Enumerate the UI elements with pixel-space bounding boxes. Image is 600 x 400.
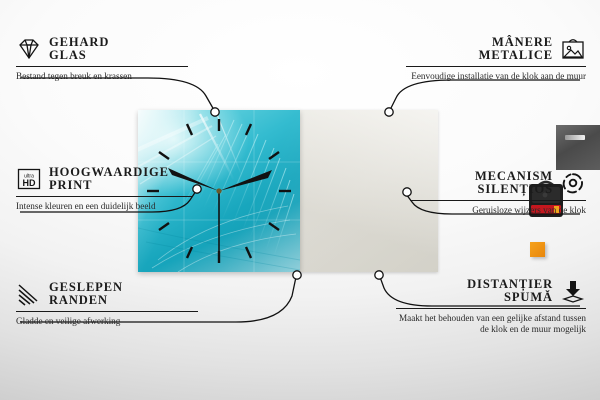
callout-description: Maakt het behouden van een gelijke afsta… bbox=[396, 313, 586, 337]
wall-mount-picture-icon bbox=[560, 37, 586, 61]
callout-title-line-2: GLAS bbox=[49, 49, 109, 62]
callout-description: Bestand tegen breuk en krassen bbox=[16, 71, 188, 83]
callout-title: GESLEPEN RANDEN bbox=[49, 281, 123, 308]
callout-title: MÂNERE METALICE bbox=[479, 36, 553, 63]
callout-header: MÂNERE METALICE bbox=[406, 36, 586, 63]
callout-geslepen-randen[interactable]: GESLEPEN RANDEN Gladde en veilige afwerk… bbox=[16, 281, 198, 327]
callout-title-line-1: HOOGWAARDIGE bbox=[49, 166, 169, 179]
callout-title-line-2: METALICE bbox=[479, 49, 553, 62]
callout-description: Intense kleuren en een duidelijk beeld bbox=[16, 201, 192, 213]
callout-header: DISTANȚIER SPUMĂ bbox=[396, 278, 586, 305]
callout-header: MECANISM SILENȚIOS bbox=[410, 170, 586, 197]
svg-text:HD: HD bbox=[23, 178, 36, 188]
callout-distantier-spuma[interactable]: DISTANȚIER SPUMĂ Maakt het behouden van … bbox=[396, 278, 586, 336]
callout-title: MECANISM SILENȚIOS bbox=[475, 170, 553, 197]
callout-title-line-2: RANDEN bbox=[49, 294, 123, 307]
callout-title: DISTANȚIER SPUMĂ bbox=[467, 278, 553, 305]
connector-dot-edges bbox=[293, 271, 301, 279]
callout-title-line-2: SPUMĂ bbox=[504, 291, 553, 304]
callout-header: GESLEPEN RANDEN bbox=[16, 281, 198, 308]
callout-title-line-1: DISTANȚIER bbox=[467, 278, 553, 291]
callout-title-line-1: MÂNERE bbox=[492, 36, 553, 49]
callout-divider bbox=[16, 311, 198, 312]
callout-description: Eenvoudige installatie van de klok aan d… bbox=[406, 71, 586, 83]
callout-title-line-1: GEHARD bbox=[49, 36, 109, 49]
infographic-stage: GEHARD GLAS Bestand tegen breuk en krass… bbox=[0, 0, 600, 400]
down-arrow-spacer-icon bbox=[560, 279, 586, 303]
connector-dot-metal bbox=[385, 108, 393, 116]
callout-description: Gladde en veilige afwerking bbox=[16, 316, 198, 328]
callout-divider bbox=[16, 66, 188, 67]
connector-dot-print bbox=[193, 185, 201, 193]
callout-description: Geruisloze wijzers van de klok bbox=[410, 205, 586, 217]
connector-dot-spacer bbox=[375, 271, 383, 279]
callout-gehard-glas[interactable]: GEHARD GLAS Bestand tegen breuk en krass… bbox=[16, 36, 188, 82]
callout-title-line-1: MECANISM bbox=[475, 170, 553, 183]
callout-title: HOOGWAARDIGE PRINT bbox=[49, 166, 169, 193]
ultra-hd-icon: ultra HD bbox=[16, 167, 42, 191]
callout-mecanism-silentios[interactable]: MECANISM SILENȚIOS Geruisloze wijzers va… bbox=[410, 170, 586, 216]
callout-title-line-1: GESLEPEN bbox=[49, 281, 123, 294]
callout-hoogwaardige-print[interactable]: ultra HD HOOGWAARDIGE PRINT Intense kleu… bbox=[16, 166, 192, 212]
callout-divider bbox=[406, 66, 586, 67]
callout-divider bbox=[396, 308, 586, 309]
callout-header: GEHARD GLAS bbox=[16, 36, 188, 63]
callout-manere-metalice[interactable]: MÂNERE METALICE Eenvoudige installatie v… bbox=[406, 36, 586, 82]
ground-edges-icon bbox=[16, 282, 42, 306]
connector-dot-glass bbox=[211, 108, 219, 116]
callout-title-line-2: SILENȚIOS bbox=[478, 183, 554, 196]
callout-divider bbox=[16, 196, 192, 197]
callout-title-line-2: PRINT bbox=[49, 179, 169, 192]
callout-title: GEHARD GLAS bbox=[49, 36, 109, 63]
callout-header: ultra HD HOOGWAARDIGE PRINT bbox=[16, 166, 192, 193]
gear-icon bbox=[560, 171, 586, 195]
callout-divider bbox=[410, 200, 586, 201]
diamond-icon bbox=[16, 37, 42, 61]
